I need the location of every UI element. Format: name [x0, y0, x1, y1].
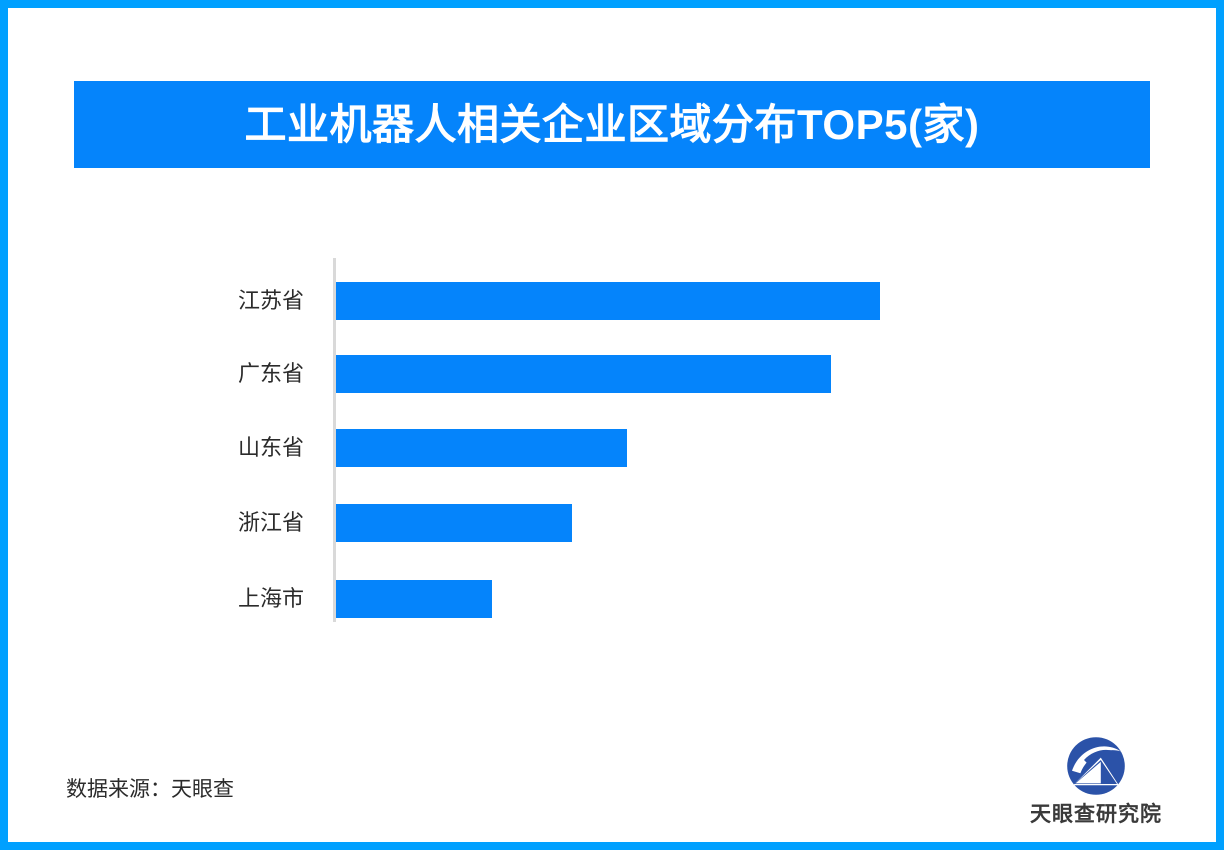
brand-logo: 天眼查研究院 [1010, 736, 1182, 828]
bar-row: 山东省 [8, 429, 1216, 467]
bar-label: 浙江省 [104, 504, 304, 542]
bar-row: 上海市 [8, 580, 1216, 618]
bar-label: 广东省 [104, 355, 304, 393]
bar-row: 浙江省 [8, 504, 1216, 542]
infographic-page: 工业机器人相关企业区域分布TOP5(家) 江苏省 广东省 山东省 浙江省 上海市… [0, 0, 1224, 850]
bar-label: 山东省 [104, 429, 304, 467]
bar-label: 江苏省 [104, 282, 304, 320]
bar-fill[interactable] [336, 429, 627, 467]
bar-fill[interactable] [336, 282, 880, 320]
bar-row: 江苏省 [8, 282, 1216, 320]
bar-fill[interactable] [336, 355, 831, 393]
bar-fill[interactable] [336, 580, 492, 618]
bar-chart: 江苏省 广东省 山东省 浙江省 上海市 [8, 8, 1216, 842]
bar-label: 上海市 [104, 580, 304, 618]
bar-fill[interactable] [336, 504, 572, 542]
logo-wordmark: 天眼查研究院 [1030, 798, 1162, 828]
bar-row: 广东省 [8, 355, 1216, 393]
data-source-note: 数据来源：天眼查 [66, 773, 234, 803]
tianyancha-circle-mountain-icon [1065, 736, 1127, 796]
